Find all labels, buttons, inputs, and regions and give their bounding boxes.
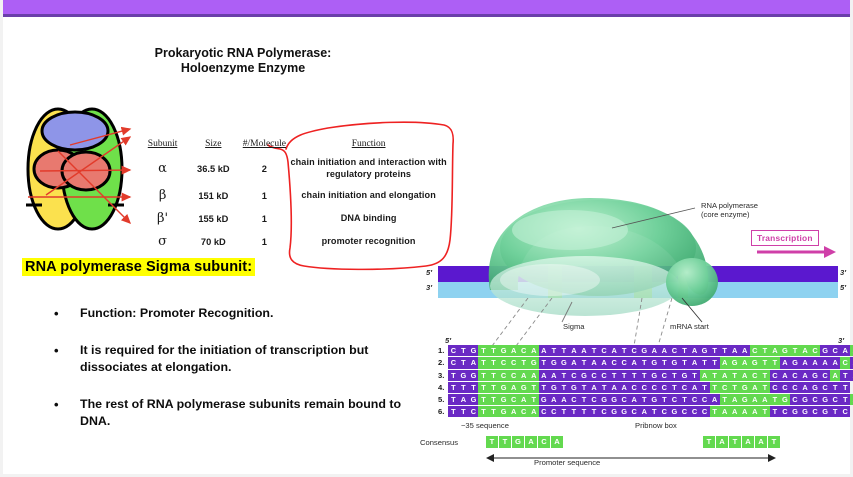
sequence-base: A [800, 370, 810, 381]
sequence-base: C [770, 370, 780, 381]
cell-count: 1 [239, 208, 289, 231]
sequence-base: T [458, 357, 468, 368]
sequence-base: G [740, 382, 750, 393]
sequence-base: G [820, 345, 830, 356]
sequence-base: T [478, 394, 488, 405]
sequence-base: T [840, 370, 850, 381]
sequence-base: T [458, 345, 468, 356]
sequence-base: G [499, 394, 509, 405]
sequence-base: C [679, 406, 689, 417]
sequence-base: C [790, 370, 800, 381]
sequence-base: C [659, 382, 669, 393]
sequence-base: A [740, 370, 750, 381]
sequence-base: T [468, 382, 478, 393]
dna-5prime-right-label: 5′ [840, 283, 846, 292]
sequence-base: C [649, 382, 659, 393]
consensus-base: C [538, 436, 551, 448]
slide-header-band-underline [0, 14, 853, 17]
sequence-bases: TAGTTGCATGAACTCGGCATGTCTCCATAGAATGCGCGCT… [448, 394, 853, 405]
sequence-base: C [820, 382, 830, 393]
sequence-base: A [800, 357, 810, 368]
sequence-base: T [519, 357, 529, 368]
sequence-base: G [468, 370, 478, 381]
sequence-base: C [509, 357, 519, 368]
sequence-base: T [448, 382, 458, 393]
consensus-pribnow-box: TATAAT [703, 436, 781, 448]
sequence-base: C [830, 345, 840, 356]
sequence-base: C [840, 357, 850, 368]
sequence-base: T [760, 370, 770, 381]
cell-function: chain initiation and interaction with re… [289, 154, 448, 185]
holoenzyme-title-line1: Prokaryotic RNA Polymerase: [118, 46, 368, 61]
sequence-row-number: 4. [438, 383, 448, 392]
sequence-base: T [599, 382, 609, 393]
sequence-base: G [468, 394, 478, 405]
sequence-base: T [830, 382, 840, 393]
sequence-base: A [820, 357, 830, 368]
sequence-base: C [609, 357, 619, 368]
sequence-base: T [448, 394, 458, 405]
sequence-base: T [489, 394, 499, 405]
sequence-base: A [589, 357, 599, 368]
sequence-base: A [599, 357, 609, 368]
sequence-base: C [810, 406, 820, 417]
sequence-base: T [770, 406, 780, 417]
sequence-base: A [629, 357, 639, 368]
sequence-base: A [509, 382, 519, 393]
sequence-base: A [760, 394, 770, 405]
sequence-base: T [539, 382, 549, 393]
sequence-base: G [559, 357, 569, 368]
sequence-base: T [720, 345, 730, 356]
rna-polymerase-core-label: RNA polymerase (core enzyme) [701, 201, 758, 219]
bullet-marker-icon: • [54, 305, 59, 322]
cell-size: 151 kD [187, 185, 239, 208]
sequence-base: C [539, 406, 549, 417]
sequence-base: A [840, 345, 850, 356]
sequence-base: A [740, 345, 750, 356]
sequence-base: G [619, 406, 629, 417]
consensus-base: T [729, 436, 742, 448]
sequence-base: A [589, 382, 599, 393]
sequence-base: T [478, 370, 488, 381]
sequence-base: A [509, 345, 519, 356]
sequence-base: T [770, 394, 780, 405]
sequence-base: G [499, 345, 509, 356]
list-item: • The rest of RNA polymerase subunits re… [50, 396, 420, 430]
consensus-base: G [512, 436, 525, 448]
consensus-base: T [486, 436, 499, 448]
sequence-base: A [619, 382, 629, 393]
sequence-row: 5.TAGTTGCATGAACTCGGCATGTCTCCATAGAATGCGCG… [438, 394, 838, 406]
sequence-row-number: 6. [438, 407, 448, 416]
sequence-base: T [478, 345, 488, 356]
sequence-base: C [549, 406, 559, 417]
table-row: α 36.5 kD 2 chain initiation and interac… [138, 154, 448, 185]
sequence-base: T [639, 394, 649, 405]
sequence-base: C [720, 382, 730, 393]
sequence-base: A [549, 370, 559, 381]
pribnow-box-label: Pribnow box [635, 421, 677, 430]
sequence-base: C [589, 394, 599, 405]
sequence-base: A [458, 394, 468, 405]
sequence-base: C [499, 370, 509, 381]
rna-polymerase-promoter-figure: Transcription RNA polymerase (core enzym… [420, 190, 853, 477]
sequence-base: G [609, 394, 619, 405]
sequence-base: T [730, 370, 740, 381]
sequence-base: T [478, 406, 488, 417]
sequence-base: A [569, 357, 579, 368]
sequence-base: T [589, 406, 599, 417]
sequence-base: A [609, 345, 619, 356]
sequence-base: G [579, 370, 589, 381]
sequence-base: C [810, 394, 820, 405]
sequence-base: C [679, 382, 689, 393]
sequence-base: C [619, 394, 629, 405]
sequence-base: T [619, 370, 629, 381]
sequence-base: T [489, 357, 499, 368]
sequence-row-number: 5. [438, 395, 448, 404]
sequence-base: G [730, 357, 740, 368]
sequence-base: T [569, 406, 579, 417]
minus35-sequence-label: −35 sequence [461, 421, 509, 430]
sequence-base: T [679, 357, 689, 368]
sequence-base: T [579, 357, 589, 368]
sequence-row: 3.TGGTTCCAAAATCGCCTTTTGCTGTATATACTCACAGC… [438, 369, 838, 381]
sequence-base: T [760, 357, 770, 368]
consensus-base: T [768, 436, 781, 448]
sequence-bases: TGGTTCCAAAATCGCCTTTTGCTGTATATACTCACAGCAT… [448, 370, 853, 381]
sequence-base: T [770, 357, 780, 368]
sequence-base: A [810, 357, 820, 368]
sequence-base: A [529, 345, 539, 356]
sequence-base: T [700, 382, 710, 393]
col-header-function: Function [289, 138, 448, 154]
sequence-base: A [700, 370, 710, 381]
sequence-base: T [559, 406, 569, 417]
sequence-base: G [800, 406, 810, 417]
sequence-base: T [458, 406, 468, 417]
col-header-subunit: Subunit [138, 138, 187, 154]
dna-5prime-left-label: 5′ [426, 268, 432, 277]
sequence-row-number: 3. [438, 371, 448, 380]
sequence-base: C [448, 345, 458, 356]
subunit-table: Subunit Size #/Molecule Function α 36.5 … [138, 138, 448, 254]
sequence-base: A [740, 357, 750, 368]
sequence-base: A [689, 345, 699, 356]
sequence-base: G [599, 394, 609, 405]
sequence-base: A [730, 345, 740, 356]
sequence-base: T [760, 345, 770, 356]
sequence-base: G [820, 406, 830, 417]
sequence-base: T [760, 406, 770, 417]
sequence-base: A [539, 345, 549, 356]
sequence-base: A [569, 345, 579, 356]
sequence-base: G [539, 394, 549, 405]
sequence-base: A [629, 394, 639, 405]
sequence-base: C [599, 406, 609, 417]
sequence-row-number: 1. [438, 346, 448, 355]
sequence-base: C [629, 406, 639, 417]
sequence-base: T [549, 345, 559, 356]
sequence-base: G [669, 357, 679, 368]
bullet-marker-icon: • [54, 342, 59, 359]
sequence-base: T [448, 370, 458, 381]
sequence-base: A [559, 394, 569, 405]
sequence-base: T [539, 357, 549, 368]
list-item-label: The rest of RNA polymerase subunits rema… [80, 397, 401, 428]
sequence-base: A [529, 370, 539, 381]
sequence-base: G [780, 394, 790, 405]
rna-polymerase-core-label-line1: RNA polymerase [701, 201, 758, 210]
sequence-base: T [639, 357, 649, 368]
sequence-base: G [810, 382, 820, 393]
sequence-base: C [820, 370, 830, 381]
sequence-bases: CTATTCCTGTGGATAACCATGTGTATTAGAGTTAGAAAAC… [448, 357, 853, 368]
sequence-base: T [700, 357, 710, 368]
cell-size: 36.5 kD [187, 154, 239, 185]
sequence-base: G [499, 382, 509, 393]
promoter-span-arrow [486, 452, 776, 464]
sequence-base: T [579, 394, 589, 405]
sequence-base: A [659, 345, 669, 356]
sequence-base: C [770, 382, 780, 393]
sequence-base: T [790, 345, 800, 356]
sequence-base: T [840, 382, 850, 393]
consensus-base: A [742, 436, 755, 448]
sequence-base: G [458, 370, 468, 381]
transcription-direction-badge: Transcription [751, 230, 819, 246]
consensus-base: T [703, 436, 716, 448]
promoter-sequence-alignment: 1.CTGTTGACAATTAATCATCGAACTAGTTAACTAGTACG… [438, 345, 838, 418]
sequence-base: C [689, 406, 699, 417]
sequence-base: T [669, 370, 679, 381]
cell-subunit: β' [138, 208, 187, 231]
sequence-base: G [569, 382, 579, 393]
slide-canvas: Prokaryotic RNA Polymerase: Holoenzyme E… [0, 0, 853, 477]
sequence-base: T [489, 406, 499, 417]
bullet-marker-icon: • [54, 396, 59, 413]
sigma-section-heading: RNA polymerase Sigma subunit: [22, 258, 255, 276]
sequence-base: G [529, 357, 539, 368]
sequence-base: C [790, 394, 800, 405]
dna-3prime-right-label: 3′ [840, 268, 846, 277]
sequence-base: G [700, 345, 710, 356]
sequence-base: T [448, 406, 458, 417]
sequence-base: C [569, 394, 579, 405]
sequence-base: G [499, 406, 509, 417]
sequence-base: A [780, 357, 790, 368]
sequence-base: A [529, 406, 539, 417]
cell-subunit: α [138, 154, 187, 185]
sequence-base: T [710, 357, 720, 368]
list-item: • Function: Promoter Recognition. [50, 305, 420, 322]
sequence-base: A [609, 382, 619, 393]
sequence-base: T [730, 382, 740, 393]
sequence-base: A [649, 345, 659, 356]
sequence-base: C [750, 370, 760, 381]
sequence-base: G [649, 357, 659, 368]
cell-count: 1 [239, 185, 289, 208]
subunit-table-header-row: Subunit Size #/Molecule Function [138, 138, 448, 154]
slide-left-edge [0, 0, 3, 477]
consensus-minus35-box: TTGACA [486, 436, 564, 448]
consensus-sequences: TTGACA TATAAT [486, 436, 826, 448]
sequence-base: A [800, 382, 810, 393]
sequence-base: T [710, 370, 720, 381]
sequence-base: A [730, 406, 740, 417]
sequence-base: A [539, 370, 549, 381]
cell-size: 70 kD [187, 231, 239, 254]
consensus-base: A [755, 436, 768, 448]
sequence-base: G [790, 357, 800, 368]
sequence-base: T [830, 406, 840, 417]
sequence-base: G [649, 370, 659, 381]
sequence-base: T [559, 345, 569, 356]
sequence-base: G [669, 406, 679, 417]
sequence-base: C [750, 345, 760, 356]
sequence-base: C [689, 394, 699, 405]
sequence-base: T [629, 370, 639, 381]
sequence-base: A [750, 394, 760, 405]
sequence-base: G [519, 382, 529, 393]
sequence-base: A [830, 357, 840, 368]
sequence-base: A [639, 406, 649, 417]
sequence-base: G [468, 345, 478, 356]
sequence-base: G [679, 370, 689, 381]
dna-3prime-left-label: 3′ [426, 283, 432, 292]
sequence-base: C [499, 357, 509, 368]
sequence-base: T [659, 357, 669, 368]
sequence-base: G [549, 357, 559, 368]
sequence-base: T [760, 382, 770, 393]
sequence-base: A [780, 370, 790, 381]
sequence-base: C [780, 382, 790, 393]
sequence-base: A [750, 382, 760, 393]
table-row: β' 155 kD 1 DNA binding [138, 208, 448, 231]
holoenzyme-title: Prokaryotic RNA Polymerase: Holoenzyme E… [118, 46, 368, 76]
sequence-base: T [619, 345, 629, 356]
sequence-base: A [770, 345, 780, 356]
list-item-label: It is required for the initiation of tra… [80, 343, 368, 374]
sequence-base: C [599, 345, 609, 356]
sequence-bases: TTTTTGAGTTGTGTATAACCCCTCATTCTGATCCCAGCTT [448, 382, 850, 393]
sequence-base: C [519, 345, 529, 356]
sequence-base: A [740, 406, 750, 417]
sequence-base: T [458, 382, 468, 393]
sequence-base: C [509, 394, 519, 405]
sequence-base: C [629, 382, 639, 393]
cell-size: 155 kD [187, 208, 239, 231]
sequence-base: T [710, 382, 720, 393]
sequence-base: A [689, 382, 699, 393]
holoenzyme-title-line2: Holoenzyme Enzyme [118, 61, 368, 76]
sequence-base: G [800, 394, 810, 405]
sequence-base: T [659, 394, 669, 405]
sequence-base: T [489, 382, 499, 393]
sequence-row: 6.TTCTTGACACCTTTTCGGCATCGCCCTAAAATTCGGCG… [438, 406, 838, 418]
sequence-base: G [780, 345, 790, 356]
holoenzyme-figure: Prokaryotic RNA Polymerase: Holoenzyme E… [18, 42, 448, 247]
cell-count: 2 [239, 154, 289, 185]
sequence-base: A [720, 357, 730, 368]
sequence-base: A [720, 370, 730, 381]
col-header-size: Size [187, 138, 239, 154]
rna-polymerase-core-label-line2: (core enzyme) [701, 210, 750, 219]
sequence-bases: TTCTTGACACCTTTTCGGCATCGCCCTAAAATTCGGCGTC [448, 406, 850, 417]
sequence-base: T [489, 370, 499, 381]
sequence-base: C [599, 370, 609, 381]
sequence-base: C [669, 345, 679, 356]
sequence-base: G [810, 370, 820, 381]
sequence-base: T [529, 382, 539, 393]
consensus-base: A [525, 436, 538, 448]
sequence-base: T [720, 394, 730, 405]
sequence-base: T [679, 394, 689, 405]
sequence-base: T [669, 382, 679, 393]
sequence-base: T [710, 345, 720, 356]
sequence-row: 2.CTATTCCTGTGGATAACCATGTGTATTAGAGTTAGAAA… [438, 357, 838, 369]
sequence-base: A [710, 394, 720, 405]
sequence-base: T [609, 370, 619, 381]
sequence-base: C [780, 406, 790, 417]
sequence-base: A [579, 345, 589, 356]
cell-subunit: σ [138, 231, 187, 254]
sequence-base: T [478, 382, 488, 393]
sequence-base: C [659, 406, 669, 417]
slide-header-band [0, 0, 853, 14]
sequence-base: T [579, 406, 589, 417]
sequence-base: C [589, 370, 599, 381]
sequence-base: C [569, 370, 579, 381]
sequence-base: C [840, 406, 850, 417]
sequence-bases: CTGTTGACAATTAATCATCGAACTAGTTAACTAGTACGCA… [448, 345, 853, 356]
sequence-base: C [448, 357, 458, 368]
col-header-molecules: #/Molecule [239, 138, 289, 154]
sequence-base: T [489, 345, 499, 356]
consensus-base: A [716, 436, 729, 448]
sequence-base: C [669, 394, 679, 405]
sequence-base: G [820, 394, 830, 405]
sequence-base: C [519, 406, 529, 417]
promoter-sequence-label: Promoter sequence [534, 458, 600, 467]
sequence-row: 1.CTGTTGACAATTAATCATCGAACTAGTTAACTAGTACG… [438, 345, 838, 357]
sequence-base: C [468, 406, 478, 417]
sequence-base: A [830, 370, 840, 381]
sequence-base: G [639, 345, 649, 356]
sequence-base: A [509, 406, 519, 417]
sequence-base: A [519, 394, 529, 405]
sequence-base: T [679, 345, 689, 356]
sequence-base: C [700, 406, 710, 417]
sequence-base: A [468, 357, 478, 368]
sequence-base: T [840, 394, 850, 405]
sequence-base: G [549, 382, 559, 393]
consensus-base: T [499, 436, 512, 448]
sequence-base: G [609, 406, 619, 417]
sequence-base: C [659, 370, 669, 381]
sequence-base: T [478, 357, 488, 368]
sequence-base: C [830, 394, 840, 405]
sequence-base: G [750, 357, 760, 368]
sequence-base: A [519, 370, 529, 381]
sequence-row: 4.TTTTTGAGTTGTGTATAACCCCTCATTCTGATCCCAGC… [438, 382, 838, 394]
cell-subunit: β [138, 185, 187, 208]
sequence-base: G [790, 406, 800, 417]
sequence-row-number: 2. [438, 358, 448, 367]
sequence-base: T [649, 406, 659, 417]
sequence-base: T [589, 345, 599, 356]
